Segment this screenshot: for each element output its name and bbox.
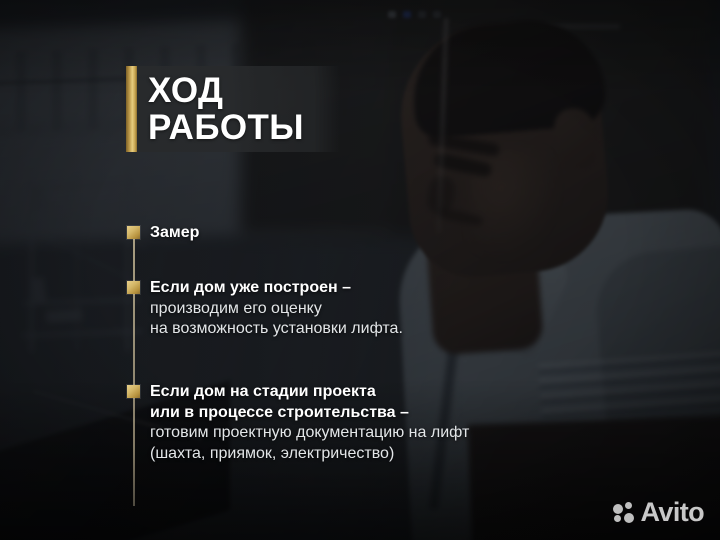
- slide-root: ХОД РАБОТЫ Замер Если дом уже построен –…: [0, 0, 720, 540]
- avito-four-dots-icon: [613, 502, 635, 524]
- list-item-line: (шахта, приямок, электричество): [150, 444, 469, 465]
- avito-watermark: Avito: [613, 499, 705, 526]
- avito-dot-2: [625, 502, 632, 509]
- list-item-line: Если дом на стадии проекта: [150, 382, 469, 403]
- list-item: Если дом уже построен – производим его о…: [127, 278, 403, 340]
- bullet-list: Замер Если дом уже построен – производим…: [0, 0, 720, 540]
- gold-square-bullet-icon: [127, 226, 140, 239]
- list-item-text: Если дом уже построен – производим его о…: [150, 278, 403, 340]
- list-item-line: на возможность установки лифта.: [150, 319, 403, 340]
- list-item-line: или в процессе строительства –: [150, 403, 469, 424]
- avito-dot-1: [613, 504, 623, 514]
- gold-square-bullet-icon: [127, 281, 140, 294]
- list-item-line: готовим проектную документацию на лифт: [150, 423, 469, 444]
- list-item-text: Замер: [150, 223, 199, 244]
- avito-wordmark: Avito: [641, 499, 705, 526]
- gold-square-bullet-icon: [127, 385, 140, 398]
- list-item-text: Если дом на стадии проекта или в процесс…: [150, 382, 469, 464]
- list-item: Замер: [127, 223, 199, 244]
- slide-content: ХОД РАБОТЫ Замер Если дом уже построен –…: [0, 0, 720, 540]
- list-item-line: Замер: [150, 223, 199, 244]
- list-item: Если дом на стадии проекта или в процесс…: [127, 382, 469, 464]
- avito-dot-4: [624, 513, 634, 523]
- avito-dot-3: [614, 515, 621, 522]
- list-item-line: Если дом уже построен –: [150, 278, 403, 299]
- list-item-line: производим его оценку: [150, 299, 403, 320]
